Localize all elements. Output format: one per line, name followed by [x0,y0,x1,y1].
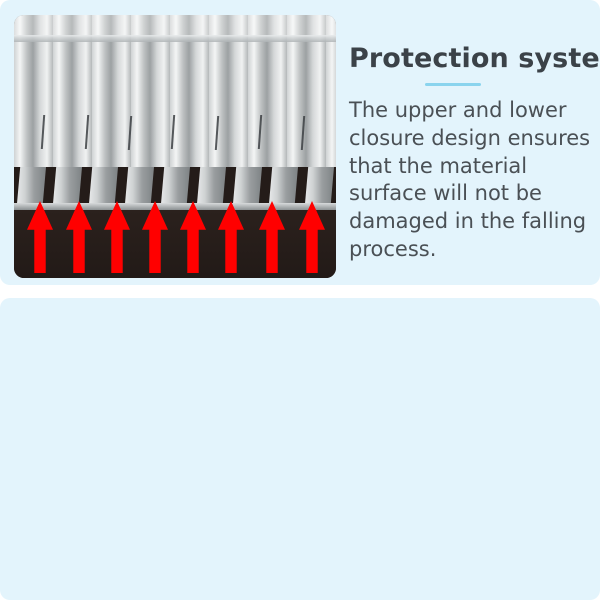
panel-protection-system: Protection system The upper and lower cl… [0,0,600,285]
protection-system-textblock: Protection system The upper and lower cl… [349,44,593,264]
protection-system-body: The upper and lower closure design ensur… [349,97,593,265]
panel-bottle-locator: Bottle locator The V locator can be adju… [0,298,600,600]
protection-system-title: Protection system [349,44,593,74]
slat-top-band [14,35,336,42]
protection-system-photo [14,15,336,278]
chute-rail [14,203,336,210]
dark-floor [14,210,336,278]
title-divider [425,83,481,86]
